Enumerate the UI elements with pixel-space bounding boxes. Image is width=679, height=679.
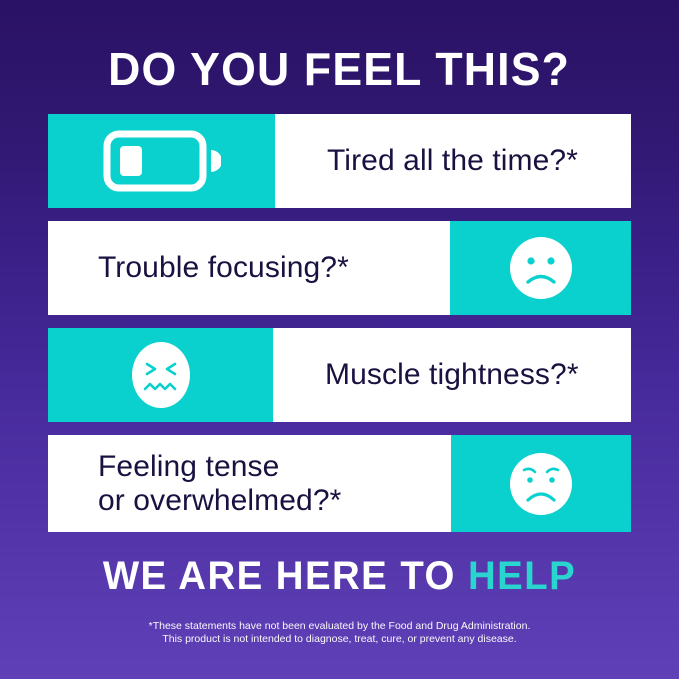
list-item-label: Feeling tense or overwhelmed?* — [48, 450, 341, 518]
symptom-list: Tired all the time?* Trouble focusing?* — [48, 114, 631, 532]
call-to-action-main: WE ARE HERE TO — [103, 554, 456, 598]
worried-face-icon — [451, 435, 631, 532]
wincing-face-icon — [48, 328, 273, 422]
call-to-action-accent: HELP — [468, 554, 576, 598]
symptom-text-cell: Tired all the time?* — [275, 114, 631, 208]
list-item-label: Muscle tightness?* — [273, 358, 579, 392]
list-item[interactable]: Trouble focusing?* — [48, 221, 631, 315]
list-item[interactable]: Feeling tense or overwhelmed?* — [48, 435, 631, 532]
sad-face-icon — [450, 221, 631, 315]
poster: DO YOU FEEL THIS? Tired all the time?* T… — [0, 0, 679, 679]
low-battery-icon — [48, 114, 275, 208]
page-title: DO YOU FEEL THIS? — [109, 44, 571, 94]
list-item-label: Trouble focusing?* — [48, 251, 349, 285]
list-item[interactable]: Muscle tightness?* — [48, 328, 631, 422]
symptom-text-cell: Feeling tense or overwhelmed?* — [48, 435, 451, 532]
symptom-text-cell: Muscle tightness?* — [273, 328, 631, 422]
disclaimer-text: *These statements have not been evaluate… — [80, 620, 600, 646]
call-to-action-title: WE ARE HERE TO HELP — [103, 554, 576, 598]
list-item-label: Tired all the time?* — [275, 144, 578, 178]
list-item[interactable]: Tired all the time?* — [48, 114, 631, 208]
symptom-text-cell: Trouble focusing?* — [48, 221, 450, 315]
